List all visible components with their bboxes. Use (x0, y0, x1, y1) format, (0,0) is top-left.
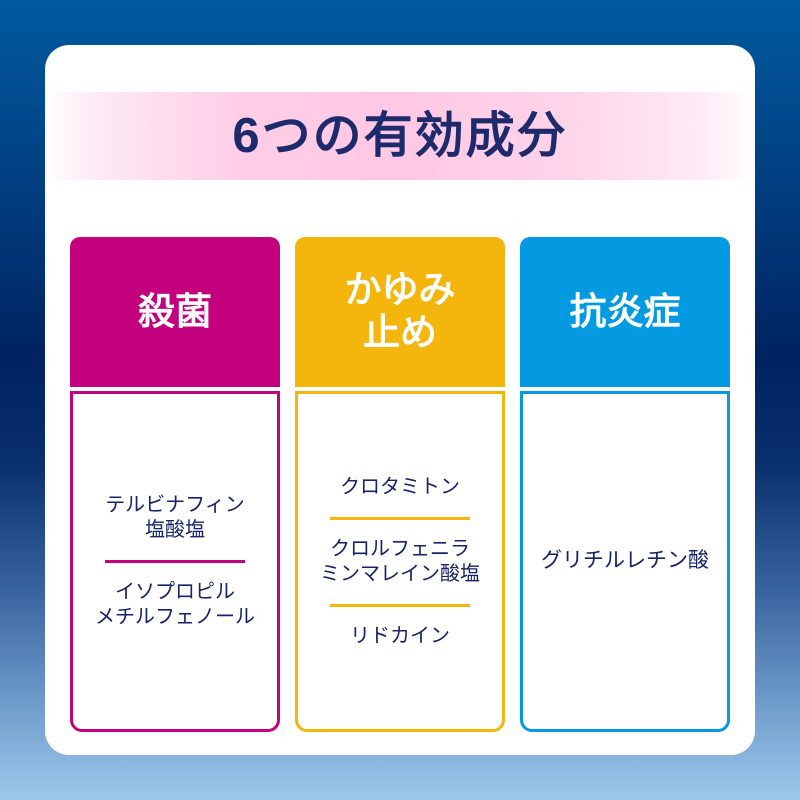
title-banner: 6つの有効成分 (45, 92, 755, 180)
column-body-anti-itch: クロタミトン クロルフェニラ ミンマレイン酸塩 リドカイン (295, 391, 505, 732)
info-card: 6つの有効成分 殺菌 テルビナフィン 塩酸塩 イソプロピル メチルフェノール か… (45, 45, 755, 755)
ingredient-columns: 殺菌 テルビナフィン 塩酸塩 イソプロピル メチルフェノール かゆみ 止め クロ… (70, 237, 730, 732)
column-sterilization: 殺菌 テルビナフィン 塩酸塩 イソプロピル メチルフェノール (70, 237, 280, 732)
column-header-anti-itch: かゆみ 止め (295, 237, 505, 387)
ingredient-item: クロタミトン (340, 475, 460, 500)
column-body-sterilization: テルビナフィン 塩酸塩 イソプロピル メチルフェノール (70, 391, 280, 732)
ingredient-item: テルビナフィン 塩酸塩 (105, 493, 245, 543)
ingredient-item: イソプロピル メチルフェノール (95, 580, 255, 630)
ingredient-divider (330, 604, 469, 607)
poster-background: 6つの有効成分 殺菌 テルビナフィン 塩酸塩 イソプロピル メチルフェノール か… (0, 0, 800, 800)
ingredient-item: クロルフェニラ ミンマレイン酸塩 (320, 537, 480, 587)
ingredient-divider (105, 560, 244, 563)
page-title: 6つの有効成分 (232, 112, 567, 161)
column-header-anti-inflammatory: 抗炎症 (520, 237, 730, 387)
ingredient-item: リドカイン (350, 624, 450, 649)
ingredient-item: グリチルレチン酸 (541, 548, 709, 574)
column-anti-inflammatory: 抗炎症 グリチルレチン酸 (520, 237, 730, 732)
ingredient-divider (330, 517, 469, 520)
column-anti-itch: かゆみ 止め クロタミトン クロルフェニラ ミンマレイン酸塩 リドカイン (295, 237, 505, 732)
column-header-sterilization: 殺菌 (70, 237, 280, 387)
column-body-anti-inflammatory: グリチルレチン酸 (520, 391, 730, 732)
